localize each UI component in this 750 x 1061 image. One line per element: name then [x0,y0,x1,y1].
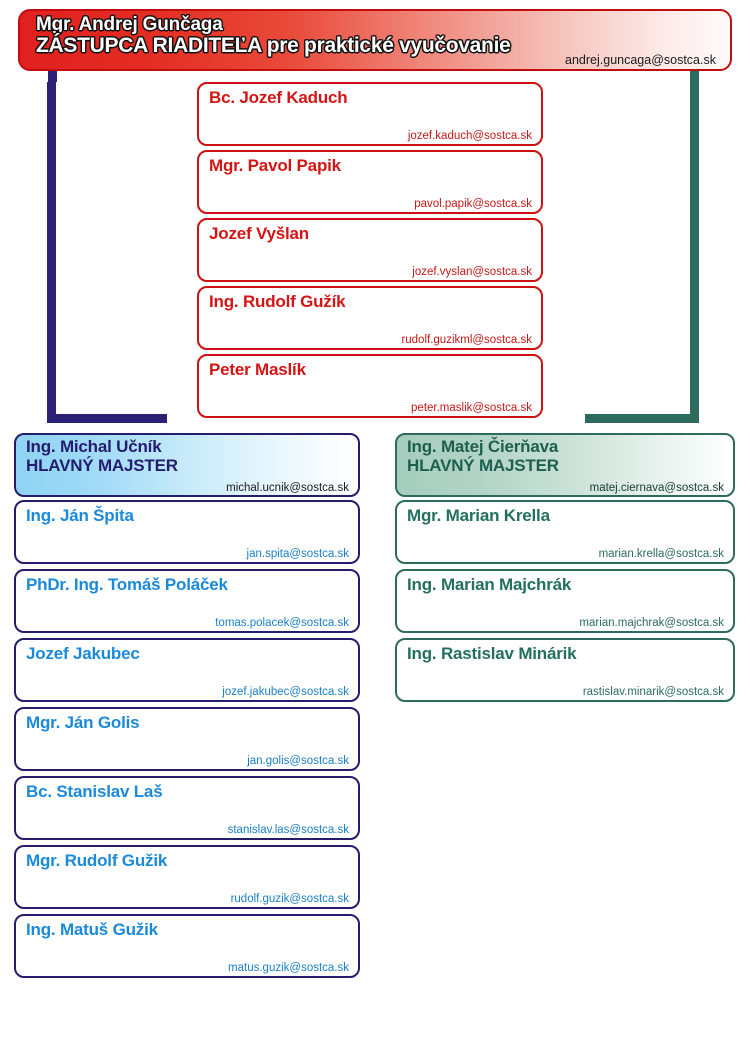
person-email: marian.krella@sostca.sk [599,548,724,560]
person-email: jozef.vyslan@sostca.sk [412,266,532,278]
person-name: Bc. Stanislav Laš [26,782,162,802]
head-person-email: matej.ciernava@sostca.sk [590,482,724,494]
left-card-0[interactable]: Ing. Ján Špita jan.spita@sostca.sk [14,500,360,564]
right-card-0[interactable]: Mgr. Marian Krella marian.krella@sostca.… [395,500,735,564]
person-email: marian.majchrak@sostca.sk [579,617,724,629]
left-card-3[interactable]: Mgr. Ján Golis jan.golis@sostca.sk [14,707,360,771]
person-name: Ing. Rastislav Minárik [407,644,576,664]
person-email: matus.guzik@sostca.sk [228,962,349,974]
person-name: Mgr. Rudolf Gužik [26,851,167,871]
right-card-1[interactable]: Ing. Marian Majchrák marian.majchrak@sos… [395,569,735,633]
header-person-email: andrej.guncaga@sostca.sk [565,53,716,67]
center-card-4[interactable]: Peter Maslík peter.maslik@sostca.sk [197,354,543,418]
person-name: Ing. Rudolf Gužík [209,292,345,312]
person-email: jozef.kaduch@sostca.sk [408,130,532,142]
person-email: jozef.jakubec@sostca.sk [222,686,349,698]
right-branch-head-card[interactable]: Ing. Matej Čierňava HLAVNÝ MAJSTER matej… [395,433,735,497]
person-name: Jozef Jakubec [26,644,140,664]
header-person-name: Mgr. Andrej Gunčaga [36,14,223,36]
head-person-title: HLAVNÝ MAJSTER [407,456,559,475]
person-name: Ing. Ján Špita [26,506,134,526]
person-email: tomas.polacek@sostca.sk [215,617,349,629]
connector-left-stub [48,71,57,82]
head-person-name: Ing. Matej Čierňava [407,437,558,456]
connector-left-vertical [47,82,56,423]
person-name: Ing. Marian Majchrák [407,575,571,595]
person-email: rudolf.guzik@sostca.sk [231,893,349,905]
center-card-2[interactable]: Jozef Vyšlan jozef.vyslan@sostca.sk [197,218,543,282]
person-name: Peter Maslík [209,360,306,380]
person-name: Jozef Vyšlan [209,224,309,244]
person-name: Bc. Jozef Kaduch [209,88,348,108]
left-card-1[interactable]: PhDr. Ing. Tomáš Poláček tomas.polacek@s… [14,569,360,633]
left-branch-head-card[interactable]: Ing. Michal Učník HLAVNÝ MAJSTER michal.… [14,433,360,497]
head-person-email: michal.ucnik@sostca.sk [226,482,349,494]
left-card-4[interactable]: Bc. Stanislav Laš stanislav.las@sostca.s… [14,776,360,840]
right-card-2[interactable]: Ing. Rastislav Minárik rastislav.minarik… [395,638,735,702]
person-email: jan.spita@sostca.sk [247,548,349,560]
connector-left-horizontal [47,414,167,423]
connector-right-vertical [690,82,699,423]
person-email: rastislav.minarik@sostca.sk [583,686,724,698]
left-card-5[interactable]: Mgr. Rudolf Gužik rudolf.guzik@sostca.sk [14,845,360,909]
person-email: pavol.papik@sostca.sk [414,198,532,210]
person-name: Mgr. Marian Krella [407,506,550,526]
person-name: Mgr. Ján Golis [26,713,139,733]
center-card-3[interactable]: Ing. Rudolf Gužík rudolf.guzikml@sostca.… [197,286,543,350]
person-email: stanislav.las@sostca.sk [228,824,349,836]
head-person-title: HLAVNÝ MAJSTER [26,456,178,475]
header-person-role: ZÁSTUPCA RIADITEĽA pre praktické vyučova… [36,34,511,58]
left-card-2[interactable]: Jozef Jakubec jozef.jakubec@sostca.sk [14,638,360,702]
header-card: Mgr. Andrej Gunčaga ZÁSTUPCA RIADITEĽA p… [18,9,732,71]
person-name: Mgr. Pavol Papik [209,156,341,176]
person-email: jan.golis@sostca.sk [247,755,349,767]
person-email: peter.maslik@sostca.sk [411,402,532,414]
connector-right-stub [690,71,699,82]
connector-right-horizontal [585,414,699,423]
center-card-0[interactable]: Bc. Jozef Kaduch jozef.kaduch@sostca.sk [197,82,543,146]
person-email: rudolf.guzikml@sostca.sk [401,334,532,346]
center-card-1[interactable]: Mgr. Pavol Papik pavol.papik@sostca.sk [197,150,543,214]
head-name-and-title: Ing. Matej Čierňava HLAVNÝ MAJSTER [407,437,559,475]
person-name: PhDr. Ing. Tomáš Poláček [26,575,228,595]
person-name: Ing. Matuš Gužik [26,920,158,940]
head-person-name: Ing. Michal Učník [26,437,161,456]
left-card-6[interactable]: Ing. Matuš Gužik matus.guzik@sostca.sk [14,914,360,978]
head-name-and-title: Ing. Michal Učník HLAVNÝ MAJSTER [26,437,178,475]
